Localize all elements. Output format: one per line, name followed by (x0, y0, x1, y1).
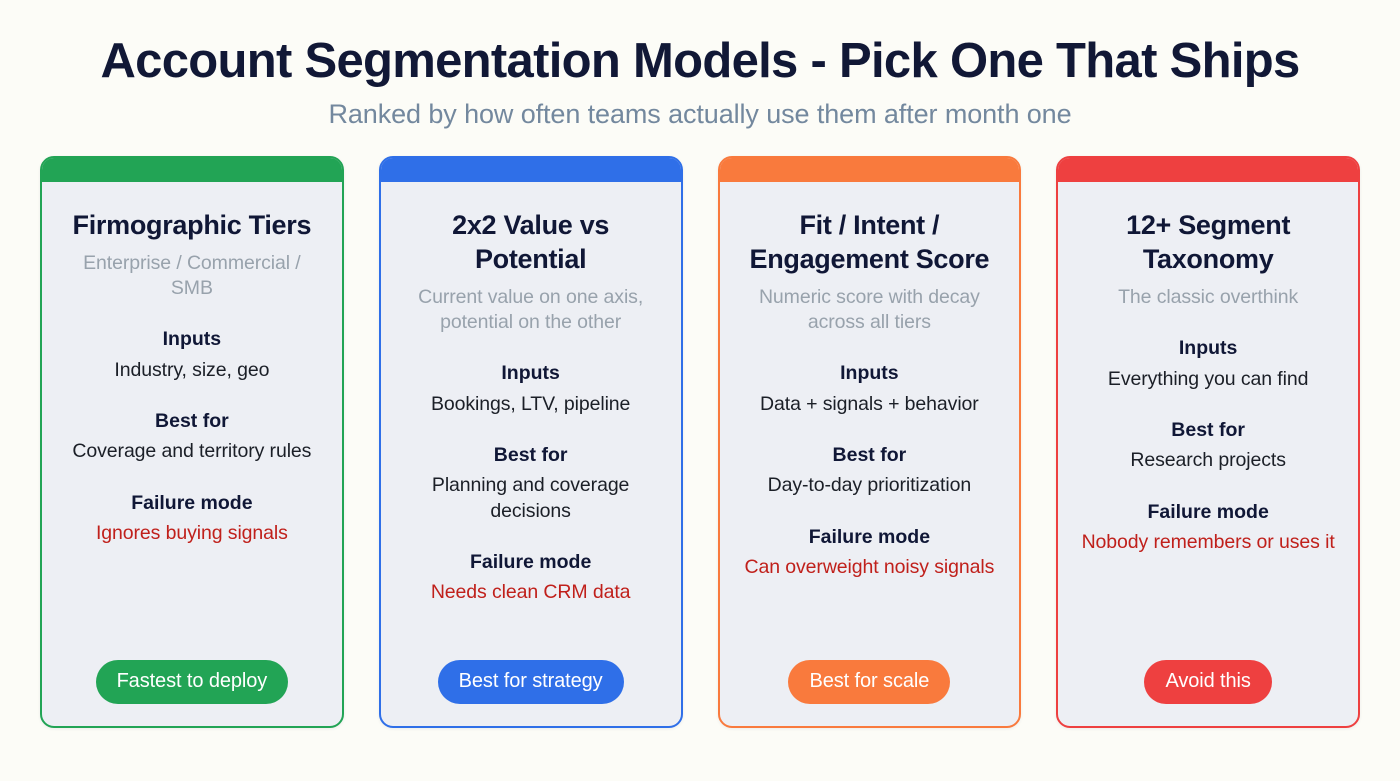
page-title: Account Segmentation Models - Pick One T… (0, 34, 1400, 89)
card-section-failure-mode: Failure mode Nobody remembers or uses it (1076, 500, 1340, 556)
section-label-failure-mode: Failure mode (60, 491, 324, 516)
card-section-inputs: Inputs Everything you can find (1076, 336, 1340, 392)
card-section-best-for: Best for Day-to-day prioritization (738, 443, 1002, 499)
section-label-best-for: Best for (1076, 418, 1340, 443)
card-badge-wrap: Best for strategy (381, 660, 681, 726)
section-label-failure-mode: Failure mode (738, 525, 1002, 550)
model-card-12plus-segment-taxonomy[interactable]: 12+ Segment Taxonomy The classic overthi… (1056, 156, 1360, 728)
section-label-best-for: Best for (399, 443, 663, 468)
card-section-failure-mode: Failure mode Ignores buying signals (60, 491, 324, 547)
card-title: Fit / Intent / Engagement Score (738, 208, 1002, 276)
section-value-inputs: Everything you can find (1076, 367, 1340, 392)
card-accent-bar (1056, 156, 1360, 182)
status-badge[interactable]: Best for scale (788, 660, 950, 704)
model-cards-row: Firmographic Tiers Enterprise / Commerci… (0, 156, 1400, 728)
model-card-2x2-value-vs-potential[interactable]: 2x2 Value vs Potential Current value on … (379, 156, 683, 728)
section-label-failure-mode: Failure mode (1076, 500, 1340, 525)
section-value-failure-mode: Nobody remembers or uses it (1076, 530, 1340, 555)
section-label-inputs: Inputs (60, 327, 324, 352)
section-value-failure-mode: Needs clean CRM data (399, 580, 663, 605)
model-card-fit-intent-engagement-score[interactable]: Fit / Intent / Engagement Score Numeric … (718, 156, 1022, 728)
section-value-failure-mode: Can overweight noisy signals (738, 555, 1002, 580)
card-title: Firmographic Tiers (73, 208, 312, 242)
card-tagline: Numeric score with decay across all tier… (738, 285, 1002, 335)
card-tagline: Current value on one axis, potential on … (399, 285, 663, 335)
card-section-failure-mode: Failure mode Can overweight noisy signal… (738, 525, 1002, 581)
section-value-inputs: Data + signals + behavior (738, 392, 1002, 417)
card-body: Firmographic Tiers Enterprise / Commerci… (42, 182, 342, 660)
card-accent-bar (718, 156, 1022, 182)
section-value-inputs: Industry, size, geo (60, 358, 324, 383)
status-badge[interactable]: Avoid this (1144, 660, 1271, 704)
card-tagline: Enterprise / Commercial / SMB (60, 251, 324, 301)
card-body: Fit / Intent / Engagement Score Numeric … (720, 182, 1020, 660)
page-subtitle: Ranked by how often teams actually use t… (0, 98, 1400, 130)
page-header: Account Segmentation Models - Pick One T… (0, 0, 1400, 130)
section-value-failure-mode: Ignores buying signals (60, 521, 324, 546)
section-label-failure-mode: Failure mode (399, 550, 663, 575)
card-badge-wrap: Best for scale (720, 660, 1020, 726)
section-value-inputs: Bookings, LTV, pipeline (399, 392, 663, 417)
card-body: 2x2 Value vs Potential Current value on … (381, 182, 681, 660)
card-section-failure-mode: Failure mode Needs clean CRM data (399, 550, 663, 606)
card-section-best-for: Best for Research projects (1076, 418, 1340, 474)
status-badge[interactable]: Fastest to deploy (96, 660, 289, 704)
model-card-firmographic-tiers[interactable]: Firmographic Tiers Enterprise / Commerci… (40, 156, 344, 728)
card-section-inputs: Inputs Bookings, LTV, pipeline (399, 361, 663, 417)
card-body: 12+ Segment Taxonomy The classic overthi… (1058, 182, 1358, 660)
section-value-best-for: Planning and coverage decisions (399, 473, 663, 524)
card-section-best-for: Best for Planning and coverage decisions (399, 443, 663, 524)
card-title: 2x2 Value vs Potential (399, 208, 663, 276)
card-badge-wrap: Avoid this (1058, 660, 1358, 726)
section-value-best-for: Coverage and territory rules (60, 439, 324, 464)
section-label-inputs: Inputs (1076, 336, 1340, 361)
card-accent-bar (379, 156, 683, 182)
status-badge[interactable]: Best for strategy (438, 660, 624, 704)
card-title: 12+ Segment Taxonomy (1076, 208, 1340, 276)
section-value-best-for: Research projects (1076, 448, 1340, 473)
section-label-inputs: Inputs (399, 361, 663, 386)
section-label-inputs: Inputs (738, 361, 1002, 386)
section-label-best-for: Best for (738, 443, 1002, 468)
card-badge-wrap: Fastest to deploy (42, 660, 342, 726)
section-value-best-for: Day-to-day prioritization (738, 473, 1002, 498)
card-section-inputs: Inputs Industry, size, geo (60, 327, 324, 383)
infographic-page: Account Segmentation Models - Pick One T… (0, 0, 1400, 781)
card-section-best-for: Best for Coverage and territory rules (60, 409, 324, 465)
card-accent-bar (40, 156, 344, 182)
card-tagline: The classic overthink (1118, 285, 1298, 310)
section-label-best-for: Best for (60, 409, 324, 434)
card-section-inputs: Inputs Data + signals + behavior (738, 361, 1002, 417)
